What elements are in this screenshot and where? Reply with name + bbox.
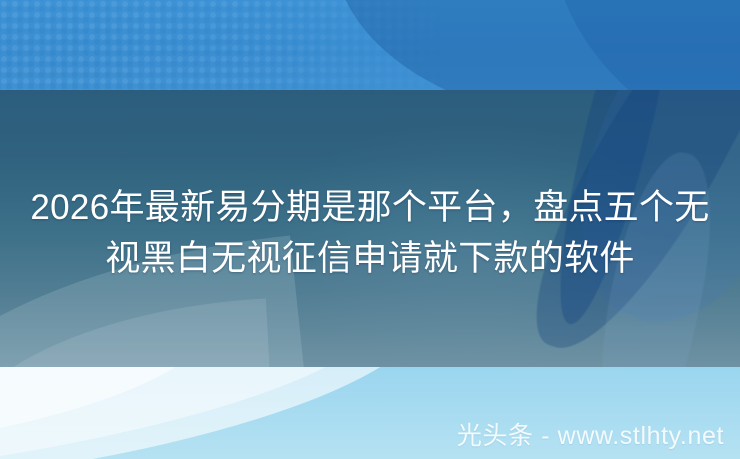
title-container: 2026年最新易分期是那个平台，盘点五个无视黑白无视征信申请就下款的软件: [0, 0, 740, 459]
page-title: 2026年最新易分期是那个平台，盘点五个无视黑白无视征信申请就下款的软件: [27, 182, 713, 284]
site-watermark: 光头条 - www.stlhty.net: [457, 421, 724, 451]
article-cover-image: 2026年最新易分期是那个平台，盘点五个无视黑白无视征信申请就下款的软件 光头条…: [0, 0, 740, 459]
